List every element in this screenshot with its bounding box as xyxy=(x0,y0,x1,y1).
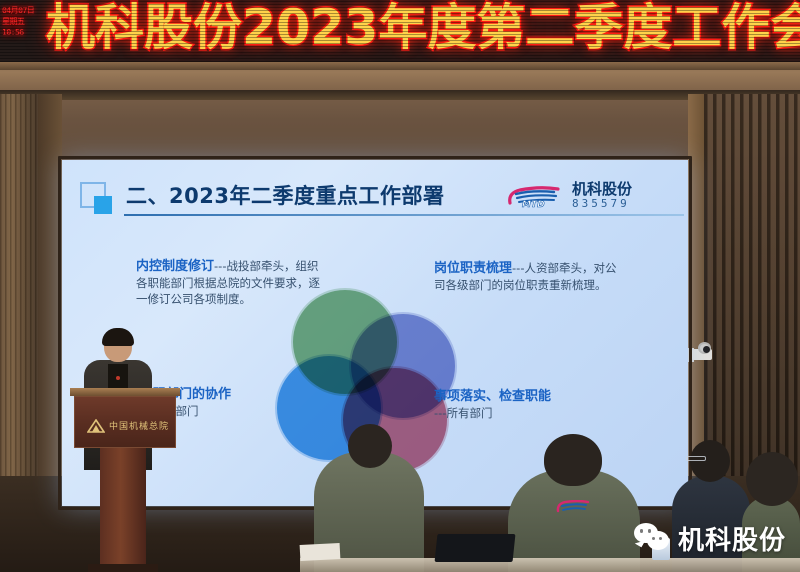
podium-front-panel: 中国机械总院 xyxy=(74,396,176,448)
podium-organization-name: 中国机械总院 xyxy=(109,419,169,432)
audience-person-3-head xyxy=(690,440,730,482)
screenshot-root: 04月07日星期五10:56 机科股份2023年度第二季度工作会议 二、2023… xyxy=(0,0,800,572)
audience-person-2-head xyxy=(544,434,602,486)
led-banner-title: 机科股份2023年度第二季度工作会议 xyxy=(46,0,800,58)
wall-shadow-band xyxy=(0,90,800,100)
triangle-emblem-icon xyxy=(87,419,105,433)
eyeglasses xyxy=(686,456,706,461)
audience-person-1-head xyxy=(348,424,392,468)
led-banner: 04月07日星期五10:56 机科股份2023年度第二季度工作会议 xyxy=(0,0,800,62)
paper-document xyxy=(300,543,341,561)
speaker-lapel-badge xyxy=(116,376,120,380)
wechat-bubble-small xyxy=(647,531,669,550)
speaker-hair xyxy=(102,328,134,346)
laptop xyxy=(435,534,516,562)
conference-table-edge xyxy=(300,558,800,572)
camera-lens xyxy=(698,342,711,354)
podium-top-surface xyxy=(70,388,180,396)
wechat-watermark: 机科股份 xyxy=(634,518,786,558)
podium-base xyxy=(88,564,158,572)
led-datetime: 04月07日星期五10:56 xyxy=(2,5,42,38)
led-frame-bottom xyxy=(0,62,800,70)
jacket-mtd-logo xyxy=(556,500,590,514)
podium: 中国机械总院 xyxy=(70,388,180,572)
audience-person-4-head xyxy=(746,452,798,506)
wechat-icon xyxy=(634,523,672,553)
podium-stem xyxy=(100,448,146,572)
watermark-text: 机科股份 xyxy=(678,520,786,557)
